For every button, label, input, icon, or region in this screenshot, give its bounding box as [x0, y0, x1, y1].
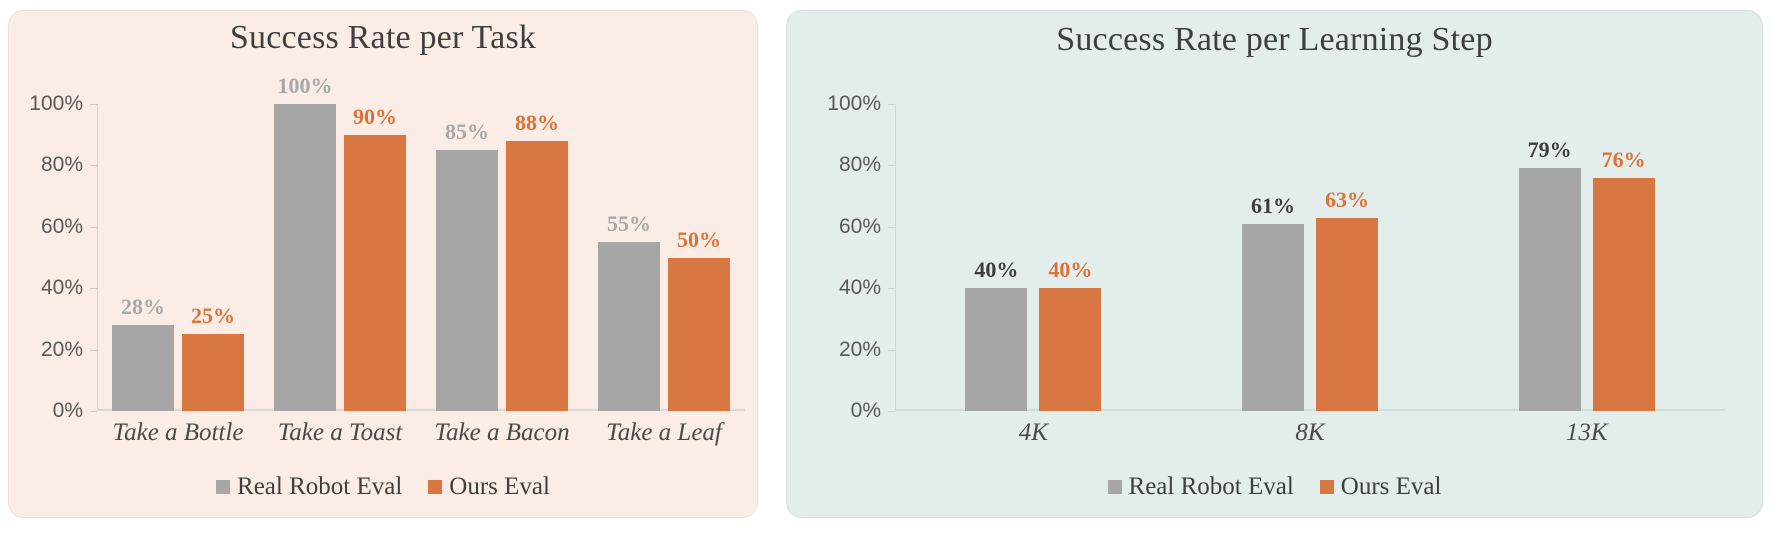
- bar-real-robot-eval[interactable]: [112, 325, 174, 411]
- bar-slot: 55%: [598, 104, 660, 411]
- y-tick-label: 60%: [41, 215, 83, 239]
- y-tick-label: 20%: [839, 338, 881, 362]
- bar-slot: 88%: [506, 104, 568, 411]
- bar-real-robot-eval[interactable]: [1242, 224, 1304, 411]
- bar-real-robot-eval[interactable]: [1519, 168, 1581, 411]
- bar-value-label: 63%: [1325, 187, 1369, 213]
- bar-slot: 40%: [1039, 104, 1101, 411]
- bar-group: 40%40%: [895, 104, 1172, 411]
- bar-real-robot-eval[interactable]: [598, 242, 660, 411]
- chart-panel-success-rate-per-task: Success Rate per Task 0%20%40%60%80%100%…: [8, 10, 758, 518]
- bar-value-label: 61%: [1251, 193, 1295, 219]
- y-tick-mark: [90, 288, 97, 289]
- chart-title-right: Success Rate per Learning Step: [787, 21, 1762, 59]
- plot-area-right: 0%20%40%60%80%100% 40%40%61%63%79%76%: [895, 104, 1725, 411]
- y-tick-label: 20%: [41, 338, 83, 362]
- y-tick-label: 40%: [839, 276, 881, 300]
- legend-left: Real Robot EvalOurs Eval: [9, 473, 757, 501]
- y-tick-mark: [90, 165, 97, 166]
- y-tick-mark: [888, 411, 895, 412]
- bar-value-label: 40%: [974, 257, 1018, 283]
- y-tick-label: 80%: [41, 153, 83, 177]
- legend-swatch-icon: [1320, 480, 1334, 494]
- bar-group: 61%63%: [1172, 104, 1449, 411]
- y-tick-label: 0%: [53, 399, 83, 423]
- category-labels-left: Take a BottleTake a ToastTake a BaconTak…: [97, 419, 745, 447]
- category-label: Take a Bottle: [97, 419, 259, 447]
- category-label: Take a Toast: [259, 419, 421, 447]
- bar-slot: 76%: [1593, 104, 1655, 411]
- category-label: 4K: [895, 419, 1172, 447]
- category-label: 13K: [1448, 419, 1725, 447]
- bar-group: 85%88%: [421, 104, 583, 411]
- bar-value-label: 76%: [1602, 147, 1646, 173]
- bar-slot: 100%: [274, 104, 336, 411]
- bar-value-label: 28%: [121, 294, 165, 320]
- y-tick-mark: [888, 288, 895, 289]
- bar-slot: 61%: [1242, 104, 1304, 411]
- bar-group: 100%90%: [259, 104, 421, 411]
- bar-slot: 25%: [182, 104, 244, 411]
- bar-slot: 40%: [965, 104, 1027, 411]
- legend-swatch-icon: [428, 480, 442, 494]
- y-tick-label: 100%: [29, 92, 83, 116]
- y-tick-label: 40%: [41, 276, 83, 300]
- bar-slot: 90%: [344, 104, 406, 411]
- bar-group: 55%50%: [583, 104, 745, 411]
- bar-ours-eval[interactable]: [506, 141, 568, 411]
- bar-slot: 63%: [1316, 104, 1378, 411]
- bar-value-label: 25%: [191, 303, 235, 329]
- legend-label: Real Robot Eval: [237, 473, 402, 501]
- bar-slot: 79%: [1519, 104, 1581, 411]
- bar-groups-left: 28%25%100%90%85%88%55%50%: [97, 104, 745, 411]
- y-tick-label: 100%: [827, 92, 881, 116]
- bar-ours-eval[interactable]: [1039, 288, 1101, 411]
- bar-value-label: 88%: [515, 110, 559, 136]
- legend-swatch-icon: [1108, 480, 1122, 494]
- bar-ours-eval[interactable]: [1593, 178, 1655, 411]
- legend-item[interactable]: Real Robot Eval: [216, 473, 402, 501]
- category-label: Take a Leaf: [583, 419, 745, 447]
- y-tick-mark: [90, 104, 97, 105]
- legend-label: Real Robot Eval: [1129, 473, 1294, 501]
- bar-ours-eval[interactable]: [1316, 218, 1378, 411]
- category-label: Take a Bacon: [421, 419, 583, 447]
- bar-ours-eval[interactable]: [668, 258, 730, 412]
- legend-right: Real Robot EvalOurs Eval: [787, 473, 1762, 501]
- bar-ours-eval[interactable]: [182, 334, 244, 411]
- bar-value-label: 40%: [1048, 257, 1092, 283]
- bar-value-label: 55%: [607, 211, 651, 237]
- bar-value-label: 100%: [278, 73, 333, 99]
- bar-value-label: 79%: [1528, 137, 1572, 163]
- legend-label: Ours Eval: [1341, 473, 1442, 501]
- bar-value-label: 85%: [445, 119, 489, 145]
- plot-area-left: 0%20%40%60%80%100% 28%25%100%90%85%88%55…: [97, 104, 745, 411]
- legend-item[interactable]: Ours Eval: [428, 473, 550, 501]
- bar-real-robot-eval[interactable]: [274, 104, 336, 411]
- y-tick-label: 0%: [851, 399, 881, 423]
- bar-group: 28%25%: [97, 104, 259, 411]
- bar-ours-eval[interactable]: [344, 135, 406, 411]
- bar-real-robot-eval[interactable]: [436, 150, 498, 411]
- bar-group: 79%76%: [1448, 104, 1725, 411]
- bar-slot: 28%: [112, 104, 174, 411]
- legend-item[interactable]: Ours Eval: [1320, 473, 1442, 501]
- chart-title-left: Success Rate per Task: [9, 19, 757, 57]
- y-tick-mark: [888, 104, 895, 105]
- legend-item[interactable]: Real Robot Eval: [1108, 473, 1294, 501]
- bar-value-label: 90%: [353, 104, 397, 130]
- bar-groups-right: 40%40%61%63%79%76%: [895, 104, 1725, 411]
- legend-label: Ours Eval: [449, 473, 550, 501]
- y-tick-label: 60%: [839, 215, 881, 239]
- y-tick-mark: [888, 227, 895, 228]
- bar-real-robot-eval[interactable]: [965, 288, 1027, 411]
- category-label: 8K: [1172, 419, 1449, 447]
- y-tick-mark: [90, 411, 97, 412]
- y-tick-label: 80%: [839, 153, 881, 177]
- chart-panel-success-rate-per-learning-step: Success Rate per Learning Step 0%20%40%6…: [786, 10, 1763, 518]
- figure-root: Success Rate per Task 0%20%40%60%80%100%…: [0, 0, 1774, 550]
- legend-swatch-icon: [216, 480, 230, 494]
- y-tick-mark: [90, 350, 97, 351]
- category-labels-right: 4K8K13K: [895, 419, 1725, 447]
- y-tick-mark: [888, 165, 895, 166]
- bar-slot: 85%: [436, 104, 498, 411]
- y-tick-mark: [888, 350, 895, 351]
- y-tick-mark: [90, 227, 97, 228]
- bar-slot: 50%: [668, 104, 730, 411]
- bar-value-label: 50%: [677, 227, 721, 253]
